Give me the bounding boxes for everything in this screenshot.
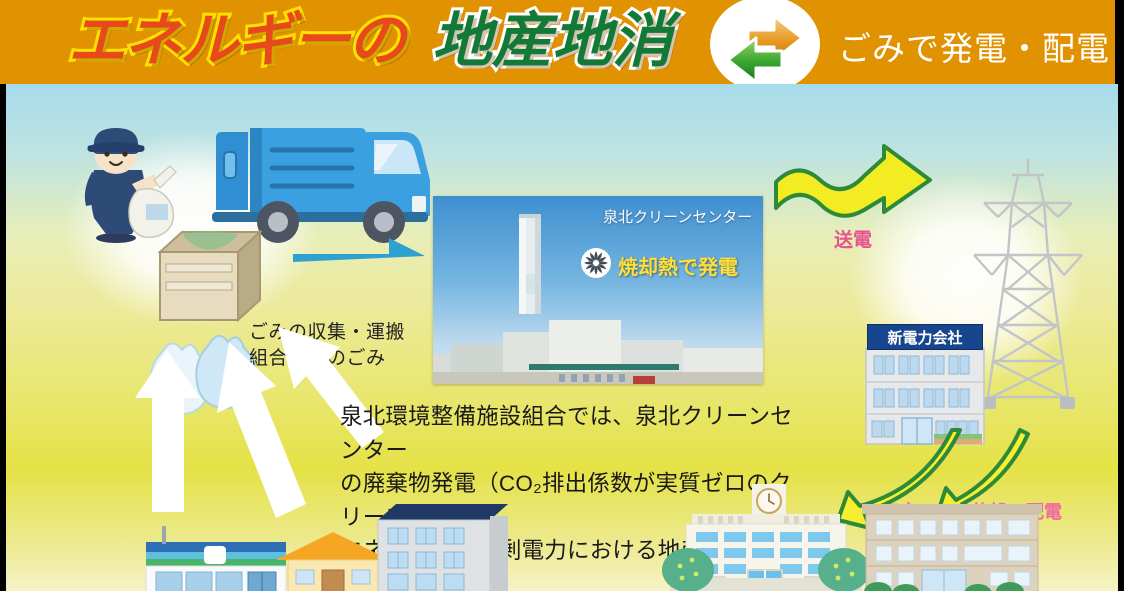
garbage-bin-icon [152, 224, 262, 329]
infographic-root: エネルギーの 地産地消 ごみで発電・配電 [0, 0, 1124, 591]
convenience-store-icon [146, 524, 286, 591]
electric-pylon-icon [968, 159, 1088, 414]
page-title-part2: 地産地消 [432, 5, 672, 77]
apartment-icon [378, 502, 508, 591]
photo-facility-label: 泉北クリーンセンター [603, 206, 752, 227]
turbine-sunburst-icon [581, 248, 611, 278]
page-title-part1: エネルギーの [68, 6, 404, 76]
diagram-canvas: ごみの収集・運搬 組合三市のごみ [6, 84, 1118, 591]
house-icon [274, 532, 392, 591]
yellow-green-wave-arrow-icon [776, 150, 956, 230]
blue-right-arrow-icon [293, 228, 428, 268]
header-band: エネルギーの 地産地消 ごみで発電・配電 [0, 0, 1115, 84]
incineration-plant-photo: 泉北クリーンセンター [433, 196, 763, 384]
recycle-arrows-icon [710, 0, 820, 92]
photo-generation-label: 焼却熱で発電 [618, 251, 738, 280]
city-hall-icon [862, 504, 1042, 591]
school-icon [656, 484, 876, 591]
power-company-sign: 新電力会社 [867, 324, 983, 350]
power-company-sign-text: 新電力会社 [887, 327, 962, 348]
plant-chimney [517, 214, 543, 314]
header-subtitle: ごみで発電・配電 [838, 22, 1110, 70]
plant-silhouette [433, 306, 763, 384]
